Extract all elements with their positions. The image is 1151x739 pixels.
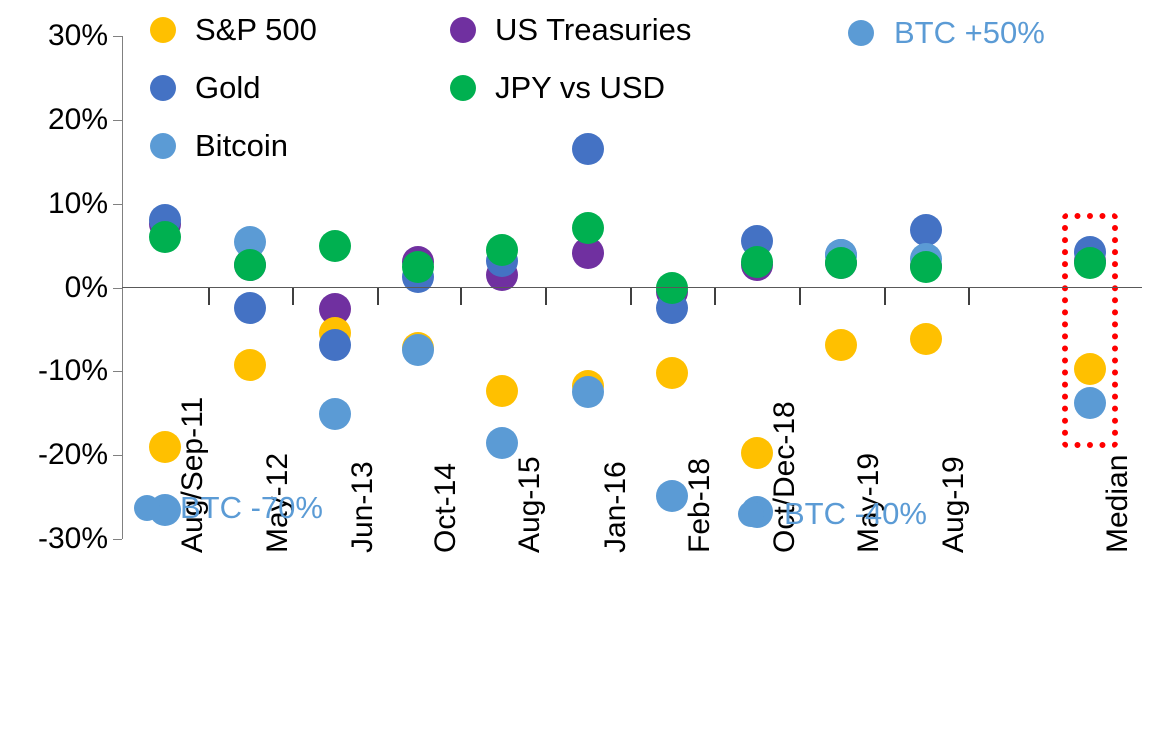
y-axis-tick-label: 0%	[0, 273, 108, 303]
data-point-marker	[910, 214, 942, 246]
x-axis-tick	[968, 288, 970, 305]
data-point-marker	[319, 329, 351, 361]
x-axis-tick-label: Jan-16	[601, 461, 631, 553]
y-axis-tick-label: -30%	[0, 524, 108, 554]
data-point-marker	[149, 221, 181, 253]
annotation-btc-50: BTC +50%	[848, 17, 1045, 48]
x-axis-tick	[714, 288, 716, 305]
y-axis-tick	[113, 204, 122, 205]
chart-container: S&P 500GoldBitcoinUS TreasuriesJPY vs US…	[0, 0, 1151, 739]
data-point-marker	[572, 133, 604, 165]
data-point-marker	[910, 323, 942, 355]
data-point-marker	[486, 427, 518, 459]
annotation-marker-icon	[738, 501, 764, 527]
annotation-label: BTC -70%	[180, 492, 323, 523]
x-axis-tick	[377, 288, 379, 305]
data-point-marker	[486, 234, 518, 266]
y-axis-tick-label: -20%	[0, 440, 108, 470]
data-point-marker	[572, 212, 604, 244]
x-axis-tick	[545, 288, 547, 305]
data-point-marker	[741, 246, 773, 278]
data-point-marker	[234, 292, 266, 324]
x-axis-tick	[292, 288, 294, 305]
x-axis-tick-label: Aug/Sep-11	[178, 397, 208, 553]
annotation-btc-70: BTC -70%	[134, 492, 323, 523]
x-axis-tick-label: Aug-19	[939, 456, 969, 553]
data-point-marker	[234, 349, 266, 381]
data-point-marker	[825, 329, 857, 361]
x-axis-tick	[884, 288, 886, 305]
y-axis-tick-label: -10%	[0, 356, 108, 386]
y-axis-tick	[113, 371, 122, 372]
data-point-marker	[486, 375, 518, 407]
data-point-marker	[402, 334, 434, 366]
data-point-marker	[402, 251, 434, 283]
y-axis-tick	[113, 455, 122, 456]
data-point-marker	[910, 251, 942, 283]
x-axis-tick-label: Oct-14	[431, 463, 461, 553]
x-axis-tick-label: Aug-15	[515, 456, 545, 553]
y-axis-tick-label: 30%	[0, 21, 108, 51]
x-axis-tick-label: Jun-13	[348, 461, 378, 553]
data-point-marker	[825, 247, 857, 279]
y-axis-tick	[113, 539, 122, 540]
y-axis-tick	[113, 288, 122, 289]
x-axis-tick	[799, 288, 801, 305]
x-axis-tick	[630, 288, 632, 305]
annotation-btc-40: BTC -40%	[738, 498, 927, 529]
y-axis-tick-label: 10%	[0, 189, 108, 219]
data-point-marker	[656, 357, 688, 389]
annotation-marker-icon	[134, 495, 160, 521]
x-axis-tick-label: Median	[1103, 455, 1133, 553]
data-point-marker	[319, 230, 351, 262]
y-axis-tick	[113, 36, 122, 37]
y-axis-tick-label: 20%	[0, 105, 108, 135]
annotation-label: BTC +50%	[894, 17, 1045, 48]
annotation-marker-icon	[848, 20, 874, 46]
x-axis-tick-label: Feb-18	[685, 458, 715, 553]
data-point-marker	[319, 398, 351, 430]
median-highlight-box	[1062, 213, 1118, 449]
x-axis-tick	[208, 288, 210, 305]
x-axis-tick	[460, 288, 462, 305]
zero-baseline	[122, 287, 1142, 289]
data-point-marker	[572, 376, 604, 408]
annotation-label: BTC -40%	[784, 498, 927, 529]
y-axis-tick	[113, 120, 122, 121]
data-point-marker	[234, 249, 266, 281]
